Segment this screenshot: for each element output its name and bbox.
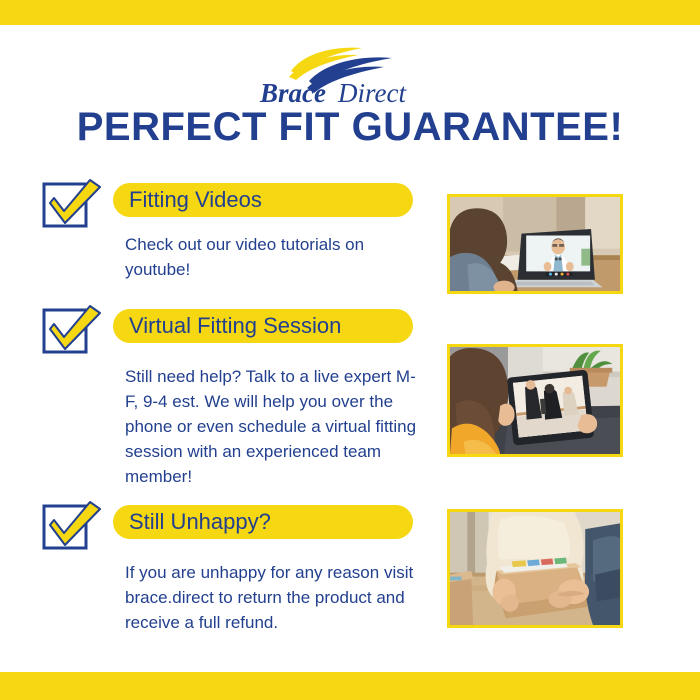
body-text-virtual-fitting-session: Still need help? Talk to a live expert M… [125, 364, 425, 489]
photo-image [450, 512, 620, 625]
photo-man-laptop-telehealth [447, 194, 623, 294]
pill-label: Still Unhappy? [129, 505, 271, 539]
pill-fitting-videos[interactable]: Fitting Videos [113, 183, 413, 217]
photo-image [450, 197, 620, 291]
photo-package-return-handoff [447, 509, 623, 628]
checkbox-checked-icon [40, 304, 106, 360]
bottom-yellow-band [0, 672, 700, 700]
poster-root: Brace Direct PERFECT FIT GUARANTEE! Fitt… [0, 0, 700, 700]
body-text-fitting-videos: Check out our video tutorials on youtube… [125, 232, 425, 282]
photo-woman-tablet-session [447, 344, 623, 457]
checkbox-checked-icon [40, 178, 106, 234]
brace-direct-logo: Brace Direct [258, 44, 448, 106]
pill-still-unhappy[interactable]: Still Unhappy? [113, 505, 413, 539]
svg-text:Direct: Direct [337, 78, 407, 106]
pill-label: Fitting Videos [129, 183, 262, 217]
body-text-still-unhappy: If you are unhappy for any reason visit … [125, 560, 425, 635]
svg-text:Brace: Brace [259, 78, 326, 106]
pill-label: Virtual Fitting Session [129, 309, 341, 343]
checkbox-checked-icon [40, 500, 106, 556]
pill-virtual-fitting-session[interactable]: Virtual Fitting Session [113, 309, 413, 343]
photo-image [450, 347, 620, 454]
page-title: PERFECT FIT GUARANTEE! [0, 105, 700, 150]
top-yellow-band [0, 0, 700, 25]
